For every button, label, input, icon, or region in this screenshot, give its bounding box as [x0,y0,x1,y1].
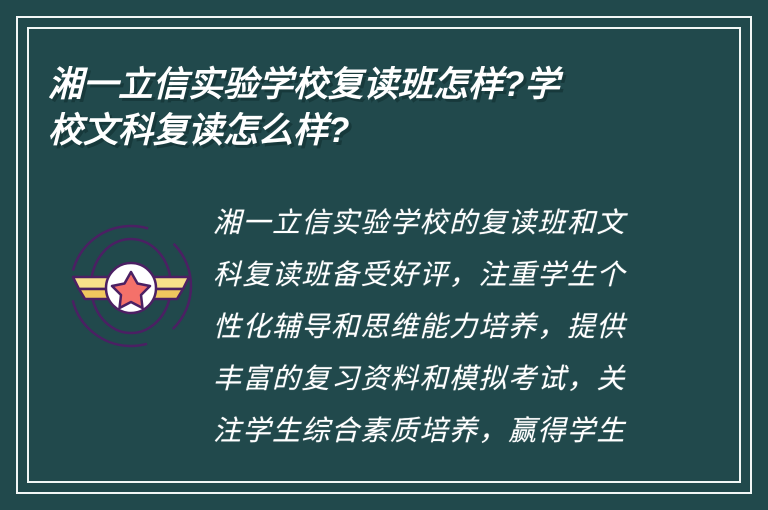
title-line-2: 校文科复读怎么样? [48,108,708,154]
emblem-container [48,196,213,352]
body-line-1: 湘一立信实验学校的复读班和文 [213,198,720,250]
poster-canvas: 湘一立信实验学校复读班怎样?学 校文科复读怎么样? [0,0,768,510]
winged-star-badge-icon [65,220,197,352]
content-row: 湘一立信实验学校的复读班和文 科复读班备受好评，注重学生个 性化辅导和思维能力培… [48,196,720,458]
body-line-3: 性化辅导和思维能力培养，提供 [213,302,720,354]
page-title: 湘一立信实验学校复读班怎样?学 校文科复读怎么样? [48,62,708,154]
body-line-4: 丰富的复习资料和模拟考试，关 [213,354,720,406]
body-line-2: 科复读班备受好评，注重学生个 [213,250,720,302]
body-paragraph: 湘一立信实验学校的复读班和文 科复读班备受好评，注重学生个 性化辅导和思维能力培… [213,196,720,458]
body-line-5: 注学生综合素质培养，赢得学生 [213,406,720,458]
title-line-1: 湘一立信实验学校复读班怎样?学 [48,62,708,108]
